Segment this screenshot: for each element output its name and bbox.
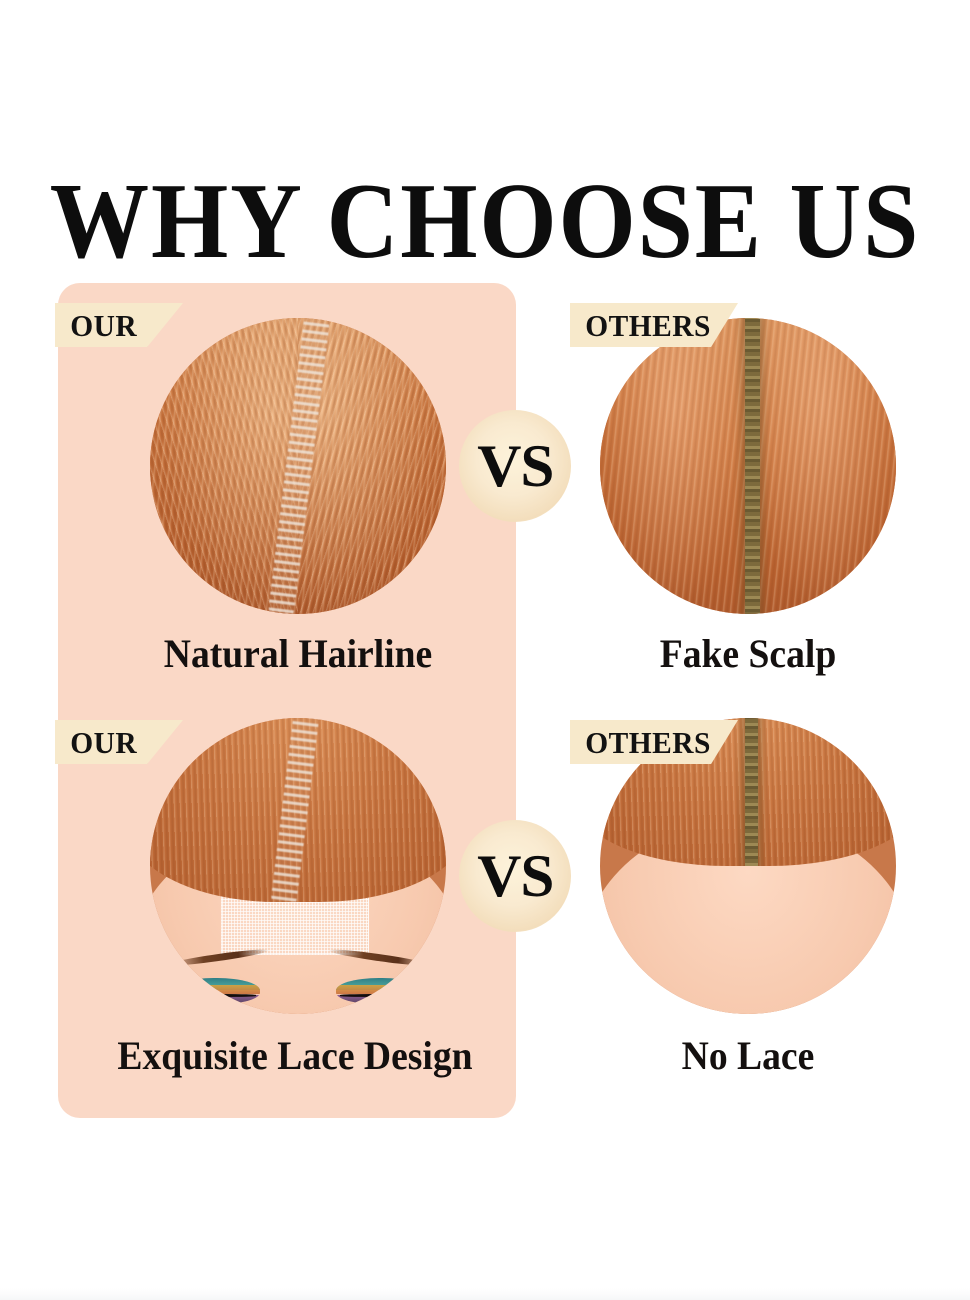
tag-label: OTHERS [570, 727, 711, 758]
our-lace-design-photo [150, 718, 446, 1014]
eyebrow-right [328, 947, 429, 968]
vs-label: VS [477, 436, 553, 496]
page-title: WHY CHOOSE US [39, 168, 931, 276]
others-fake-scalp-photo [600, 318, 896, 614]
mannequin-eye-makeup [150, 949, 446, 1014]
caption-no-lace: No Lace [609, 1036, 887, 1076]
caption-exquisite-lace-design: Exquisite Lace Design [102, 1036, 487, 1076]
caption-fake-scalp: Fake Scalp [609, 634, 887, 674]
eye-left [171, 978, 260, 1004]
tag-others-hairline: OTHERS [570, 303, 738, 347]
fake-scalp-seam-icon [745, 318, 760, 614]
bottom-edge-strip [0, 1288, 970, 1300]
eye-right [336, 978, 425, 1004]
tag-others-lace: OTHERS [570, 720, 738, 764]
infographic-canvas: WHY CHOOSE US [0, 0, 970, 1300]
eyebrow-left [168, 947, 269, 968]
fake-scalp-seam-icon [745, 718, 758, 866]
tag-label: OTHERS [570, 310, 711, 341]
eyelash-left [174, 994, 256, 997]
vs-label: VS [477, 846, 553, 906]
eyelash-right [340, 994, 422, 997]
tag-label: OUR [55, 727, 137, 758]
caption-natural-hairline: Natural Hairline [129, 634, 467, 674]
our-natural-hairline-photo [150, 318, 446, 614]
hair-cap [150, 718, 446, 902]
tag-label: OUR [55, 310, 137, 341]
vs-badge-hairline: VS [459, 410, 571, 522]
vs-badge-lace: VS [459, 820, 571, 932]
